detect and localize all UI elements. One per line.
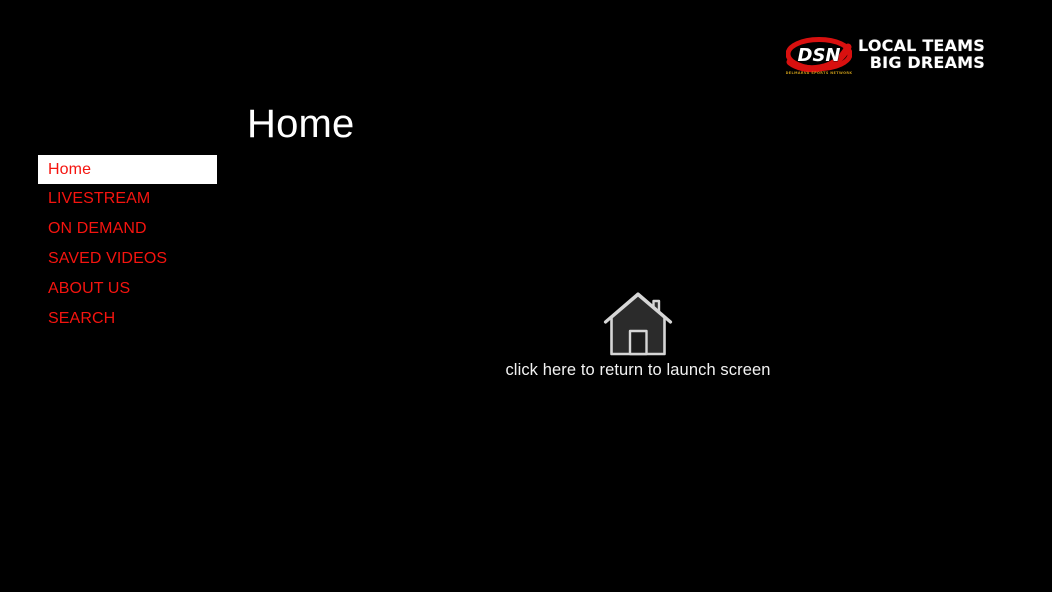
svg-text:DSN: DSN [798,45,841,66]
sidebar-item-saved-videos[interactable]: SAVED VIDEOS [38,244,217,274]
dsn-logo-icon: DSN DELMARVA SPORTS NETWORK [786,34,852,80]
sidebar-item-livestream[interactable]: LIVESTREAM [38,184,217,214]
launch-screen-label: click here to return to launch screen [505,361,770,380]
sidebar-item-home[interactable]: Home [38,155,217,184]
brand-tagline-line2: BIG DREAMS [858,55,985,72]
house-icon[interactable] [603,290,673,358]
sidebar-item-label: Home [48,161,91,179]
sidebar-item-label: LIVESTREAM [48,190,150,208]
sidebar-item-label: ABOUT US [48,280,130,298]
launch-screen-link[interactable]: click here to return to launch screen [497,290,779,380]
brand-logo: DSN DELMARVA SPORTS NETWORK LOCAL TEAMS … [786,33,968,81]
sidebar-item-label: SEARCH [48,310,115,328]
sidebar-item-label: SAVED VIDEOS [48,250,167,268]
sidebar-item-about-us[interactable]: ABOUT US [38,274,217,304]
page-title: Home [247,101,355,147]
brand-tagline: LOCAL TEAMS BIG DREAMS [858,38,985,76]
sidebar-item-label: ON DEMAND [48,220,147,238]
sidebar-nav: Home LIVESTREAM ON DEMAND SAVED VIDEOS A… [38,155,217,334]
sidebar-item-search[interactable]: SEARCH [38,304,217,334]
sidebar-item-on-demand[interactable]: ON DEMAND [38,214,217,244]
dsn-logo-subtext: DELMARVA SPORTS NETWORK [786,71,852,75]
